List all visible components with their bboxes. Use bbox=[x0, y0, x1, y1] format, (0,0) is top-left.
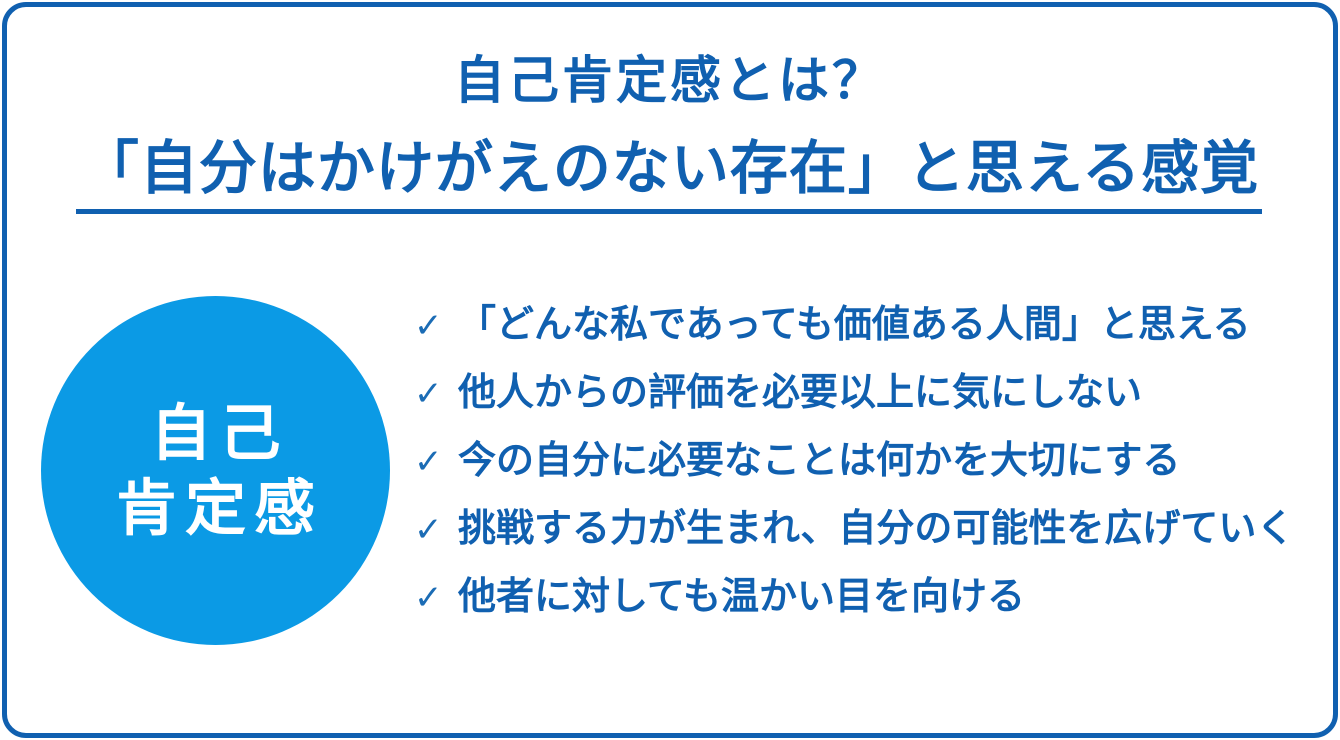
list-item: ✓ 挑戦する力が生まれ、自分の可能性を広げていく bbox=[414, 510, 1314, 578]
list-item-label: 挑戦する力が生まれ、自分の可能性を広げていく bbox=[458, 510, 1294, 548]
list-item-label: 「どんな私であっても価値ある人間」と思える bbox=[458, 306, 1251, 344]
self-esteem-circle-badge: 自己 肯定感 bbox=[41, 296, 390, 645]
list-item-label: 他者に対しても温かい目を向ける bbox=[458, 578, 1025, 616]
list-item: ✓ 他者に対しても温かい目を向ける bbox=[414, 578, 1314, 646]
badge-label-line-1: 自己 bbox=[142, 396, 288, 470]
checklist: ✓ 「どんな私であっても価値ある人間」と思える ✓ 他人からの評価を必要以上に気… bbox=[414, 306, 1314, 646]
check-icon: ✓ bbox=[414, 445, 458, 479]
subtitle-container: 「自分はかけがえのない存在」と思える感覚 bbox=[0, 135, 1340, 203]
list-item: ✓ 「どんな私であっても価値ある人間」と思える bbox=[414, 306, 1314, 374]
slide-canvas: 自己肯定感とは？ 「自分はかけがえのない存在」と思える感覚 自己 肯定感 ✓ 「… bbox=[0, 0, 1340, 740]
page-title: 自己肯定感とは？ bbox=[0, 52, 1340, 111]
check-icon: ✓ bbox=[414, 309, 458, 343]
check-icon: ✓ bbox=[414, 513, 458, 547]
page-subtitle: 「自分はかけがえのない存在」と思える感覚 bbox=[81, 135, 1259, 203]
subtitle-underline bbox=[76, 209, 1262, 214]
check-icon: ✓ bbox=[414, 581, 458, 615]
badge-label-line-2: 肯定感 bbox=[108, 471, 323, 545]
list-item: ✓ 他人からの評価を必要以上に気にしない bbox=[414, 374, 1314, 442]
list-item-label: 他人からの評価を必要以上に気にしない bbox=[458, 374, 1142, 412]
check-icon: ✓ bbox=[414, 377, 458, 411]
list-item-label: 今の自分に必要なことは何かを大切にする bbox=[458, 442, 1180, 480]
list-item: ✓ 今の自分に必要なことは何かを大切にする bbox=[414, 442, 1314, 510]
